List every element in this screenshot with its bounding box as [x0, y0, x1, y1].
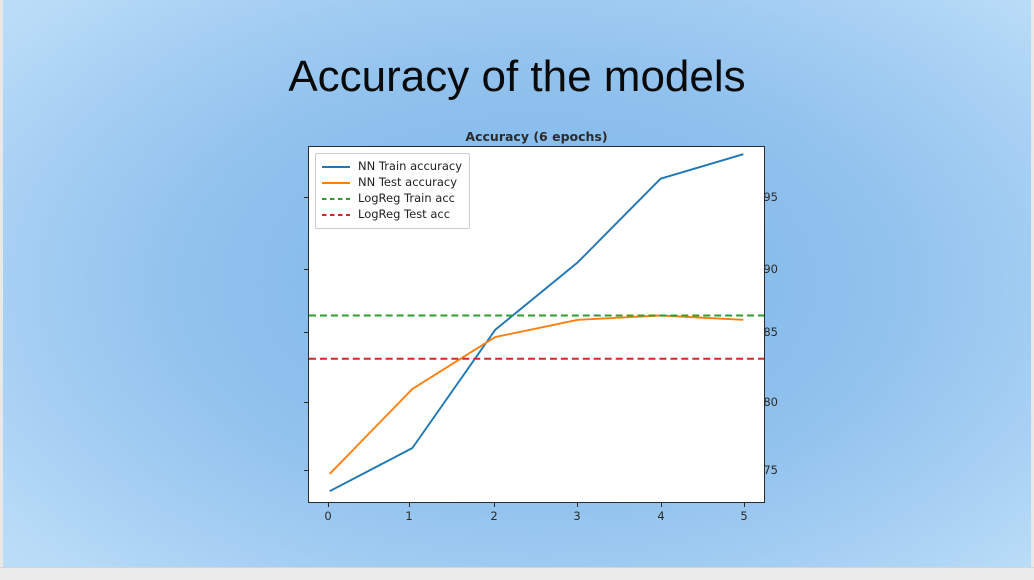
legend-swatch-nn-train: [322, 161, 350, 173]
legend-item-logreg-test: LogReg Test acc: [322, 207, 462, 223]
xtick-mark-4: [661, 503, 662, 507]
xtick-label-0: 0: [308, 509, 348, 523]
xtick-mark-0: [328, 503, 329, 507]
xtick-mark-1: [409, 503, 410, 507]
legend-item-nn-train: NN Train accuracy: [322, 159, 462, 175]
chart-legend: NN Train accuracy NN Test accuracy LogRe…: [315, 153, 470, 229]
legend-item-nn-test: NN Test accuracy: [322, 175, 462, 191]
accuracy-chart-figure: Accuracy (6 epochs) 0.95 0.90 0.85 0.80 …: [258, 120, 778, 535]
legend-label-logreg-train: LogReg Train acc: [358, 193, 455, 205]
legend-swatch-logreg-test: [322, 209, 350, 221]
slide-surface: Accuracy of the models Accuracy (6 epoch…: [3, 0, 1031, 567]
xtick-mark-3: [577, 503, 578, 507]
xtick-label-4: 4: [641, 509, 681, 523]
legend-label-logreg-test: LogReg Test acc: [358, 209, 450, 221]
xtick-mark-2: [494, 503, 495, 507]
xtick-mark-5: [744, 503, 745, 507]
xtick-label-1: 1: [389, 509, 429, 523]
chart-title: Accuracy (6 epochs): [308, 129, 765, 144]
legend-item-logreg-train: LogReg Train acc: [322, 191, 462, 207]
xtick-label-3: 3: [557, 509, 597, 523]
legend-swatch-logreg-train: [322, 193, 350, 205]
slide-root: Accuracy of the models Accuracy (6 epoch…: [0, 0, 1034, 580]
xtick-label-5: 5: [724, 509, 764, 523]
xtick-label-2: 2: [474, 509, 514, 523]
legend-label-nn-train: NN Train accuracy: [358, 161, 462, 173]
series-line-1: [330, 316, 744, 474]
legend-label-nn-test: NN Test accuracy: [358, 177, 457, 189]
page-title: Accuracy of the models: [3, 52, 1031, 102]
legend-swatch-nn-test: [322, 177, 350, 189]
bottom-strip: [0, 567, 1034, 580]
